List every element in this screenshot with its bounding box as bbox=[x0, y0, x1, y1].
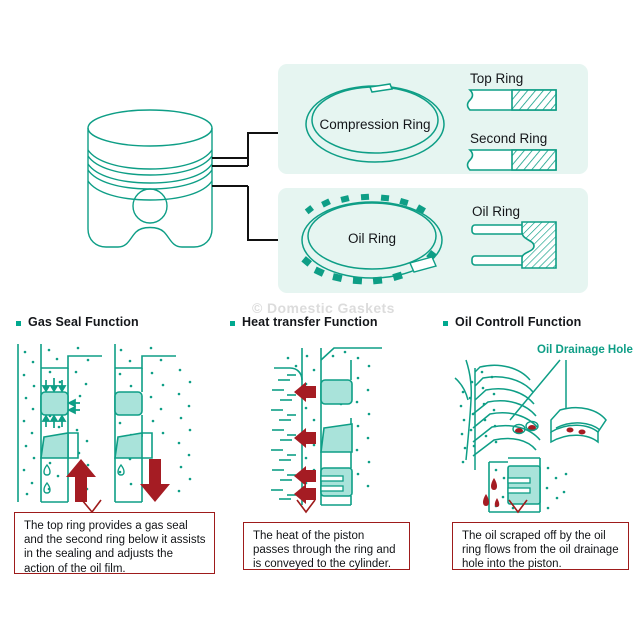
oil-droplets-right bbox=[118, 465, 124, 475]
compression-ring-label: Compression Ring bbox=[319, 117, 430, 132]
section-title-heat-transfer: Heat transfer Function bbox=[242, 315, 378, 329]
connector-lines bbox=[212, 133, 283, 240]
oil-ring-block-section bbox=[508, 466, 540, 504]
caption-gas-seal-text: The top ring provides a gas seal and the… bbox=[24, 519, 206, 576]
caption-gas-seal: The top ring provides a gas seal and the… bbox=[14, 512, 215, 574]
heat-ring-block-2 bbox=[321, 424, 352, 452]
oil-ring-xsec-label: Oil Ring bbox=[472, 204, 520, 219]
top-ring-cross-section bbox=[468, 90, 557, 110]
bullet-oil-control bbox=[443, 321, 448, 326]
oil-control-mist-dots-upper bbox=[460, 371, 498, 464]
second-ring-block-right bbox=[115, 433, 142, 458]
gas-seal-diagram bbox=[18, 344, 191, 502]
red-arrow-up bbox=[66, 459, 96, 502]
cylinder-wall-hatching bbox=[271, 375, 296, 499]
second-ring-cross-section bbox=[468, 150, 557, 170]
top-ring-block-left bbox=[41, 392, 68, 415]
oil-groove-detail-inset bbox=[551, 408, 606, 442]
oil-drainage-hole-label: Oil Drainage Hole bbox=[537, 344, 633, 356]
heat-flow-arrows bbox=[294, 382, 316, 504]
bullet-heat-transfer bbox=[230, 321, 235, 326]
bullet-gas-seal bbox=[16, 321, 21, 326]
red-arrow-down bbox=[140, 459, 170, 502]
scraped-oil-droplets bbox=[483, 478, 499, 507]
oil-ring-label: Oil Ring bbox=[348, 231, 396, 246]
second-ring-label: Second Ring bbox=[470, 131, 547, 146]
section-title-oil-control: Oil Controll Function bbox=[455, 315, 581, 329]
section-title-gas-seal: Gas Seal Function bbox=[28, 315, 139, 329]
caption-heat-transfer: The heat of the piston passes through th… bbox=[243, 522, 410, 570]
oil-control-diagram: Oil Drainage Hole bbox=[455, 344, 633, 512]
top-ring-label: Top Ring bbox=[470, 71, 523, 86]
second-ring-block-left bbox=[41, 433, 68, 458]
caption-heat-transfer-text: The heat of the piston passes through th… bbox=[253, 529, 401, 572]
heat-transfer-diagram bbox=[271, 348, 382, 505]
caption-oil-control-text: The oil scraped off by the oil ring flow… bbox=[462, 529, 620, 572]
piston-illustration bbox=[88, 110, 212, 247]
caption-oil-control: The oil scraped off by the oil ring flow… bbox=[452, 522, 629, 570]
watermark: © Domestic Gaskets bbox=[252, 300, 395, 316]
top-ring-block-right bbox=[115, 392, 142, 415]
diagram-canvas: Compression Ring Top Ring Second Ring bbox=[0, 0, 640, 640]
heat-ring-block-1 bbox=[321, 380, 352, 404]
heat-ring-block-3 bbox=[321, 468, 352, 496]
